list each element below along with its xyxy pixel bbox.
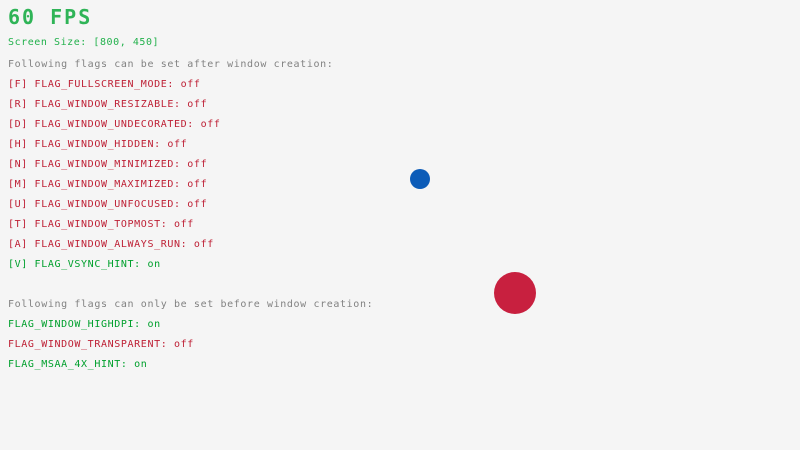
flag-line-window-highdpi: FLAG_WINDOW_HIGHDPI: on — [8, 320, 161, 330]
flag-line-msaa-4x-hint: FLAG_MSAA_4X_HINT: on — [8, 360, 147, 370]
flag-line-window-always-run[interactable]: [A] FLAG_WINDOW_ALWAYS_RUN: off — [8, 240, 214, 250]
flag-line-window-unfocused[interactable]: [U] FLAG_WINDOW_UNFOCUSED: off — [8, 200, 207, 210]
flag-line-vsync-hint[interactable]: [V] FLAG_VSYNC_HINT: on — [8, 260, 161, 270]
runtime-flags-heading: Following flags can be set after window … — [8, 60, 333, 70]
fps-counter: 60 FPS — [8, 7, 92, 27]
creation-flags-heading: Following flags can only be set before w… — [8, 300, 373, 310]
flag-line-fullscreen-mode[interactable]: [F] FLAG_FULLSCREEN_MODE: off — [8, 80, 201, 90]
screen-size-label: Screen Size: [800, 450] — [8, 38, 159, 48]
flag-line-window-undecorated[interactable]: [D] FLAG_WINDOW_UNDECORATED: off — [8, 120, 221, 130]
flag-line-window-topmost[interactable]: [T] FLAG_WINDOW_TOPMOST: off — [8, 220, 194, 230]
flag-line-window-maximized[interactable]: [M] FLAG_WINDOW_MAXIMIZED: off — [8, 180, 207, 190]
flag-line-window-resizable[interactable]: [R] FLAG_WINDOW_RESIZABLE: off — [8, 100, 207, 110]
raylib-window-flags-demo: 60 FPS Screen Size: [800, 450] Following… — [0, 0, 800, 450]
red-ball-shape — [494, 272, 536, 314]
blue-ball-shape — [410, 169, 430, 189]
flag-line-window-transparent: FLAG_WINDOW_TRANSPARENT: off — [8, 340, 194, 350]
flag-line-window-hidden[interactable]: [H] FLAG_WINDOW_HIDDEN: off — [8, 140, 187, 150]
flag-line-window-minimized[interactable]: [N] FLAG_WINDOW_MINIMIZED: off — [8, 160, 207, 170]
